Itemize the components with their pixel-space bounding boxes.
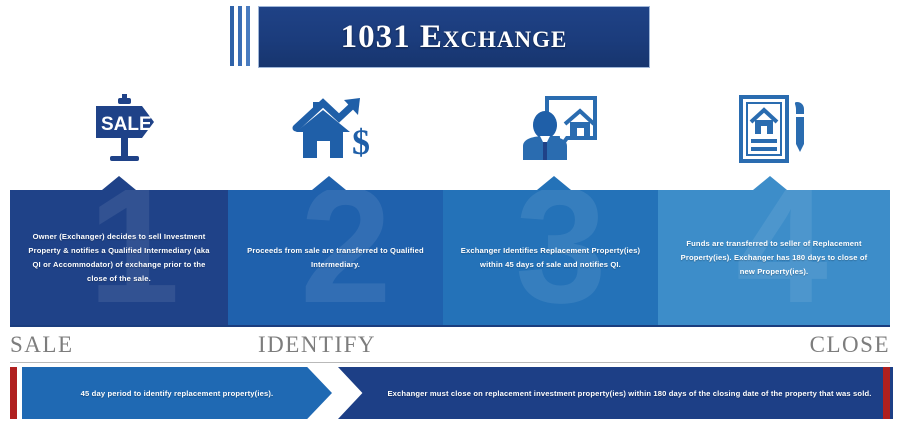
svg-text:$: $: [352, 122, 370, 162]
sale-sign-icon: SALE: [90, 92, 160, 168]
icon-row: SALE $: [0, 82, 900, 178]
steps-band: 1 Owner (Exchanger) decides to sell Inve…: [10, 190, 890, 325]
stripe-3-icon: [246, 6, 250, 66]
step-panel-4[interactable]: 4 Funds are transferred to seller of Rep…: [658, 190, 890, 325]
timeline-bar-180-day-text: Exchanger must close on replacement inve…: [343, 387, 887, 400]
icon-cell-sale: SALE: [65, 82, 185, 178]
timeline-row: 45 day period to identify replacement pr…: [0, 367, 900, 419]
title-stripes: [230, 6, 254, 66]
label-divider: [10, 362, 890, 363]
step-3-text: Exchanger Identifies Replacement Propert…: [443, 244, 658, 272]
timeline-bar-180-day[interactable]: Exchanger must close on replacement inve…: [338, 367, 893, 419]
step-panel-1[interactable]: 1 Owner (Exchanger) decides to sell Inve…: [10, 190, 228, 325]
step-panel-3[interactable]: 3 Exchanger Identifies Replacement Prope…: [443, 190, 658, 325]
timeline-start-marker-icon: [10, 367, 17, 419]
step-panel-2[interactable]: 2 Proceeds from sale are transferred to …: [228, 190, 443, 325]
step-4-text: Funds are transferred to seller of Repla…: [658, 237, 890, 279]
step-2-text: Proceeds from sale are transferred to Qu…: [228, 244, 443, 272]
notch-step-3-icon: [537, 176, 571, 190]
agent-house-bubble-icon: [521, 94, 599, 166]
stage-label-sale: SALE: [10, 332, 74, 358]
title-box: 1031 Exchange: [258, 6, 650, 68]
notch-step-4-icon: [753, 176, 787, 190]
icon-cell-close: [715, 82, 835, 178]
stage-label-identify: IDENTIFY: [258, 332, 376, 358]
title-banner: 1031 Exchange: [230, 6, 650, 66]
title-row: 1031 Exchange: [0, 6, 900, 68]
band-bottom-rule: [10, 325, 890, 327]
contract-pen-icon: [738, 94, 812, 166]
house-growth-dollar-icon: $: [292, 94, 378, 166]
stripe-2-icon: [238, 6, 242, 66]
notch-step-2-icon: [312, 176, 346, 190]
step-1-text: Owner (Exchanger) decides to sell Invest…: [10, 230, 228, 286]
icon-cell-growth: $: [275, 82, 395, 178]
svg-text:SALE: SALE: [101, 114, 152, 135]
page-title: 1031 Exchange: [341, 19, 568, 56]
stage-label-row: SALE IDENTIFY CLOSE: [0, 332, 900, 362]
notch-step-1-icon: [102, 176, 136, 190]
stage-label-close: CLOSE: [810, 332, 890, 358]
timeline-end-marker-icon: [883, 367, 890, 419]
icon-cell-identify: [500, 82, 620, 178]
timeline-bar-45-day[interactable]: 45 day period to identify replacement pr…: [22, 367, 332, 419]
stripe-1-icon: [230, 6, 234, 66]
infographic-root: 1031 Exchange SALE $: [0, 0, 900, 429]
timeline-bar-45-day-text: 45 day period to identify replacement pr…: [65, 387, 290, 400]
